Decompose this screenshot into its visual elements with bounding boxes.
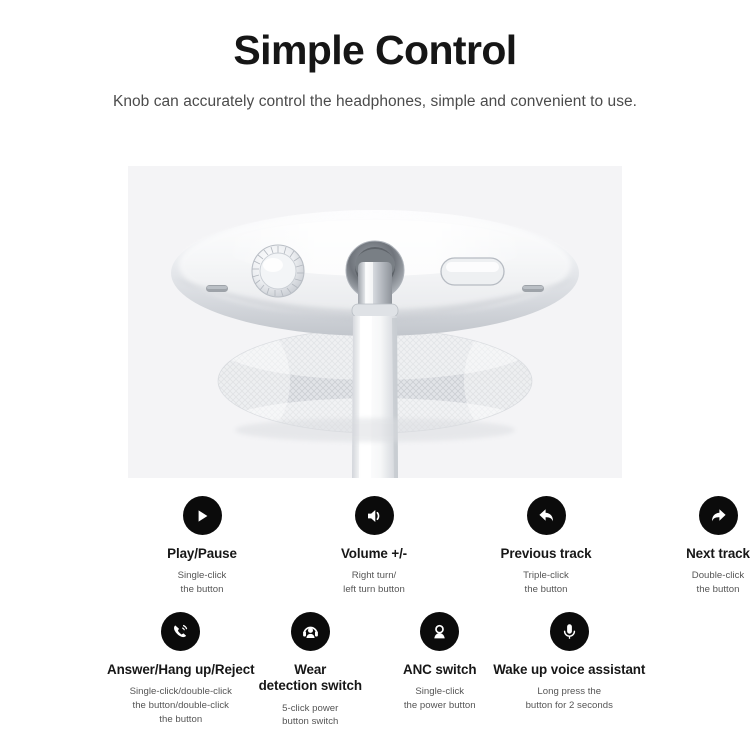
page-title: Simple Control [0,26,750,74]
feature-title: Wake up voice assistant [483,662,655,678]
feature-row-two: Answer/Hang up/Reject Single-click/doubl… [0,612,750,729]
left-vent-slot [206,285,228,292]
feature-previous-track[interactable]: Previous track Triple-click the button [460,496,632,597]
headband-stem [346,241,404,478]
product-detail-page: Simple Control Knob can accurately contr… [0,0,750,750]
microphone-icon [550,612,589,651]
feature-title: Next track [632,546,750,562]
feature-description: Triple-click the button [460,569,632,596]
feature-description: Long press the button for 2 seconds [483,685,655,712]
volume-icon [355,496,394,535]
feature-voice-assistant[interactable]: Wake up voice assistant Long press the b… [505,612,635,729]
feature-next-track[interactable]: Next track Double-click the button [632,496,750,597]
feature-description: Single-click the button [116,569,288,596]
feature-volume[interactable]: Volume +/- Right turn/ left turn button [288,496,460,597]
previous-track-icon [527,496,566,535]
headphones-control-photo [128,166,622,478]
phone-call-icon [161,612,200,651]
feature-title: Previous track [460,546,632,562]
feature-title: Play/Pause [116,546,288,562]
feature-description: Right turn/ left turn button [288,569,460,596]
control-knob [252,245,304,297]
hero-image-panel [128,166,622,478]
noise-control-button [441,258,504,285]
anc-person-icon [420,612,459,651]
feature-play-pause[interactable]: Play/Pause Single-click the button [116,496,288,597]
feature-row-one: Play/Pause Single-click the button Volum… [0,496,750,597]
right-vent-slot [522,285,544,292]
headset-wear-icon [291,612,330,651]
play-icon [183,496,222,535]
page-subtitle: Knob can accurately control the headphon… [0,90,750,114]
feature-description: Double-click the button [632,569,750,596]
header-section: Simple Control Knob can accurately contr… [0,0,750,114]
next-track-icon [699,496,738,535]
feature-title: Volume +/- [288,546,460,562]
